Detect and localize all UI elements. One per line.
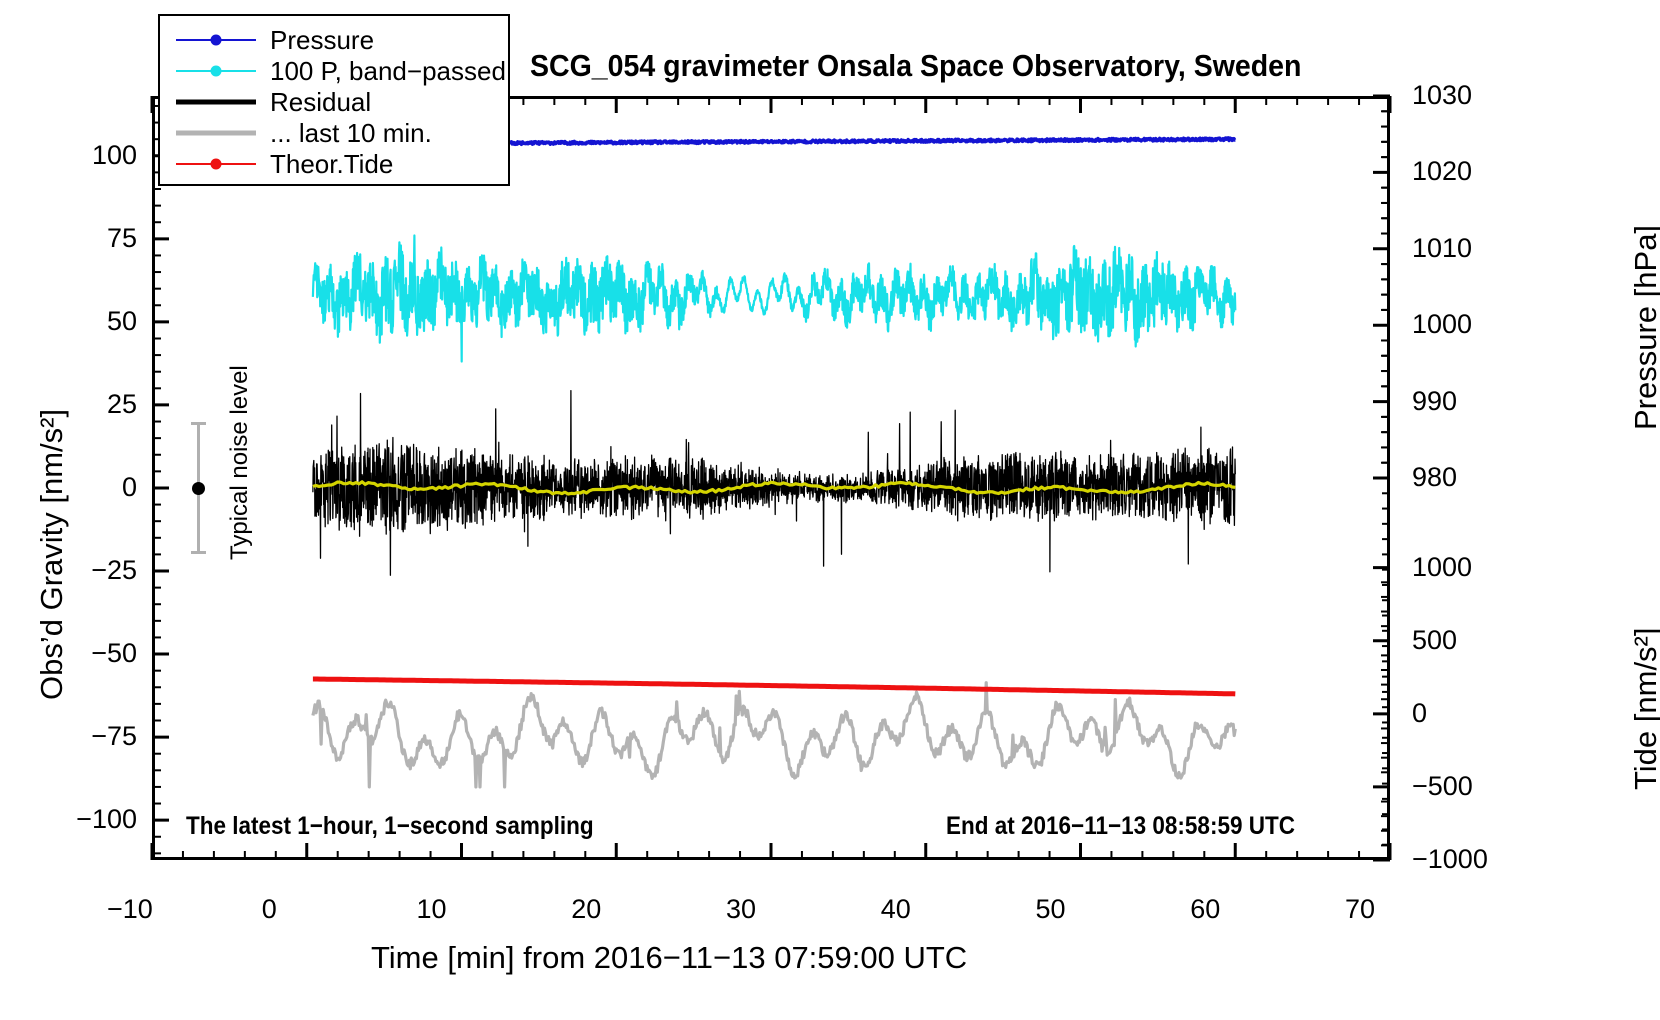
noise-cap-top: [191, 422, 206, 425]
y-axis-left-title: Obs’d Gravity [nm/s²]: [34, 409, 70, 700]
x-tick-label-2: 10: [417, 896, 447, 923]
y-left-tick-label-1: 75: [2, 225, 137, 252]
legend-item-2[interactable]: Residual: [170, 86, 498, 117]
legend-marker-dot: [211, 34, 222, 45]
y-left-tick-label-2: 50: [2, 308, 137, 335]
y-axis-right-bottom-title: Tide [nm/s²]: [1628, 628, 1660, 791]
annotation-bottom-right: End at 2016−11−13 08:58:59 UTC: [946, 812, 1295, 841]
legend-item-label: ... last 10 min.: [262, 120, 432, 146]
y-left-tick-label-7: −75: [2, 723, 137, 750]
legend-item-label: Theor.Tide: [262, 151, 393, 177]
legend-item-4[interactable]: Theor.Tide: [170, 148, 498, 179]
pressure-tick-label-2: 1010: [1412, 235, 1542, 262]
noise-center-dot: [192, 482, 205, 495]
y-left-tick-label-0: 100: [2, 142, 137, 169]
legend-item-0[interactable]: Pressure: [170, 24, 498, 55]
pressure-tick-label-3: 1000: [1412, 311, 1542, 338]
legend-swatch-icon: [170, 55, 262, 86]
x-tick-label-5: 40: [881, 896, 911, 923]
x-tick-label-0: −10: [107, 896, 153, 923]
legend-marker-dot: [211, 65, 222, 76]
x-tick-label-7: 60: [1190, 896, 1220, 923]
x-tick-label-1: 0: [262, 896, 277, 923]
legend-marker-dot: [211, 158, 222, 169]
legend-swatch-icon: [170, 24, 262, 55]
tide-tick-label-0: 1000: [1412, 554, 1542, 581]
pressure-tick-label-1: 1020: [1412, 158, 1542, 185]
chart-title: SCG_054 gravimeter Onsala Space Observat…: [530, 48, 1301, 84]
x-tick-label-3: 20: [571, 896, 601, 923]
tide-tick-label-2: 0: [1412, 700, 1542, 727]
legend-item-label: Pressure: [262, 27, 374, 53]
pressure-tick-label-4: 990: [1412, 388, 1542, 415]
noise-cap-bottom: [191, 551, 206, 554]
tide-tick-label-3: −500: [1412, 773, 1542, 800]
pressure-tick-label-0: 1030: [1412, 82, 1542, 109]
typical-noise-level-label: Typical noise level: [226, 366, 254, 561]
tide-tick-label-4: −1000: [1412, 846, 1542, 873]
pressure-tick-label-5: 980: [1412, 464, 1542, 491]
x-tick-label-8: 70: [1345, 896, 1375, 923]
chart-canvas: −100102030405060701007550250−25−50−75−10…: [0, 0, 1660, 1020]
tide-tick-label-1: 500: [1412, 627, 1542, 654]
legend-item-label: 100 P, band−passed: [262, 58, 506, 84]
legend-item-3[interactable]: ... last 10 min.: [170, 117, 498, 148]
y-axis-right-top-title: Pressure [hPa]: [1628, 225, 1660, 430]
x-tick-label-6: 50: [1036, 896, 1066, 923]
legend-swatch-icon: [170, 117, 262, 148]
typical-noise-level-marker: [191, 422, 206, 555]
annotation-bottom-left: The latest 1−hour, 1−second sampling: [186, 812, 594, 841]
legend-item-label: Residual: [262, 89, 371, 115]
x-axis-title: Time [min] from 2016−11−13 07:59:00 UTC: [371, 940, 1171, 976]
x-tick-label-4: 30: [726, 896, 756, 923]
legend-swatch-icon: [170, 86, 262, 117]
legend-swatch-icon: [170, 148, 262, 179]
legend-item-1[interactable]: 100 P, band−passed: [170, 55, 498, 86]
legend: Pressure100 P, band−passedResidual... la…: [158, 14, 510, 186]
y-left-tick-label-8: −100: [2, 806, 137, 833]
